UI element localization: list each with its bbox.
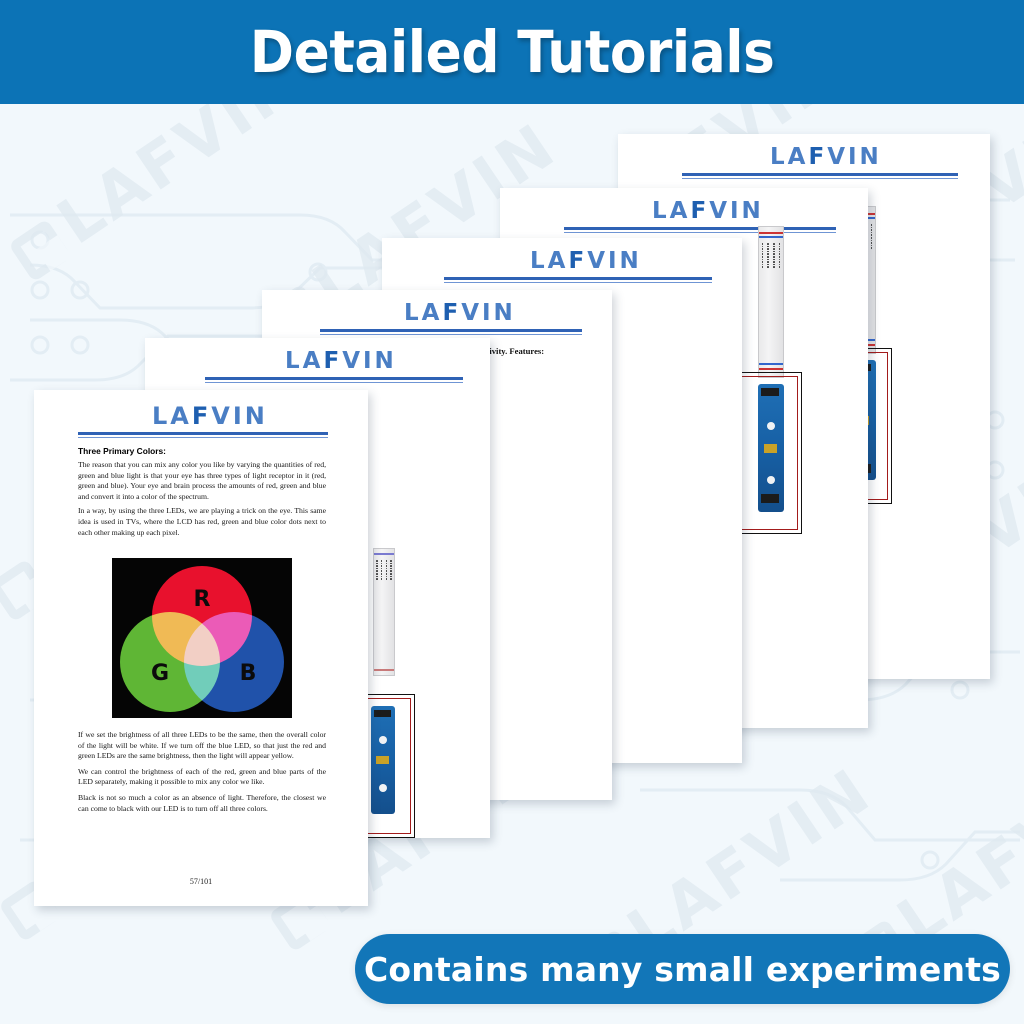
product-marketing-image: LAFVIN LAFVIN LAFVIN LAFVIN LAFVIN LAFVI… (0, 0, 1024, 1024)
page-title: Detailed Tutorials (250, 18, 775, 86)
header-rule-thin (320, 334, 582, 335)
body-paragraph: We can control the brightness of each of… (78, 767, 326, 788)
body-paragraph: The reason that you can mix any color yo… (78, 460, 326, 502)
lafvin-logo: LAFVIN (152, 402, 268, 430)
lafvin-logo: LAFVIN (530, 248, 642, 274)
page-body-top: Three Primary Colors: The reason that yo… (78, 446, 326, 542)
header-rule-thin (444, 282, 712, 283)
body-paragraph: Black is not so much a color as an absen… (78, 793, 326, 814)
wire-black (734, 372, 802, 534)
section-heading: Three Primary Colors: (78, 446, 326, 456)
header-rule-thin (564, 232, 836, 233)
header-rule (682, 173, 958, 176)
header-rule-thin (78, 437, 328, 438)
body-paragraph: In a way, by using the three LEDs, we ar… (78, 506, 326, 538)
breadboard (758, 226, 784, 378)
footer-pill-banner: Contains many small experiments (355, 934, 1010, 1004)
header-rule-thin (682, 178, 958, 179)
venn-label-blue: B (240, 661, 257, 686)
rgb-additive-venn-figure: R G B (112, 558, 292, 718)
header-rule (205, 377, 463, 380)
lafvin-logo: LAFVIN (652, 198, 764, 224)
header-rule (78, 432, 328, 435)
venn-label-green: G (151, 661, 169, 686)
header-rule (564, 227, 836, 230)
lafvin-logo: LAFVIN (285, 348, 397, 374)
page-body-bottom: If we set the brightness of all three LE… (78, 730, 326, 819)
header-rule (444, 277, 712, 280)
header-rule-thin (205, 382, 463, 383)
footer-pill-label: Contains many small experiments (364, 950, 1001, 989)
header-rule (320, 329, 582, 332)
lafvin-logo: LAFVIN (770, 144, 882, 170)
breadboard (373, 548, 395, 676)
header-banner: Detailed Tutorials (0, 0, 1024, 104)
body-paragraph: If we set the brightness of all three LE… (78, 730, 326, 762)
venn-label-red: R (194, 587, 211, 612)
tutorial-page-front: LAFVIN Three Primary Colors: The reason … (34, 390, 368, 906)
lafvin-logo: LAFVIN (404, 300, 516, 326)
page-number: 57/101 (34, 877, 368, 886)
